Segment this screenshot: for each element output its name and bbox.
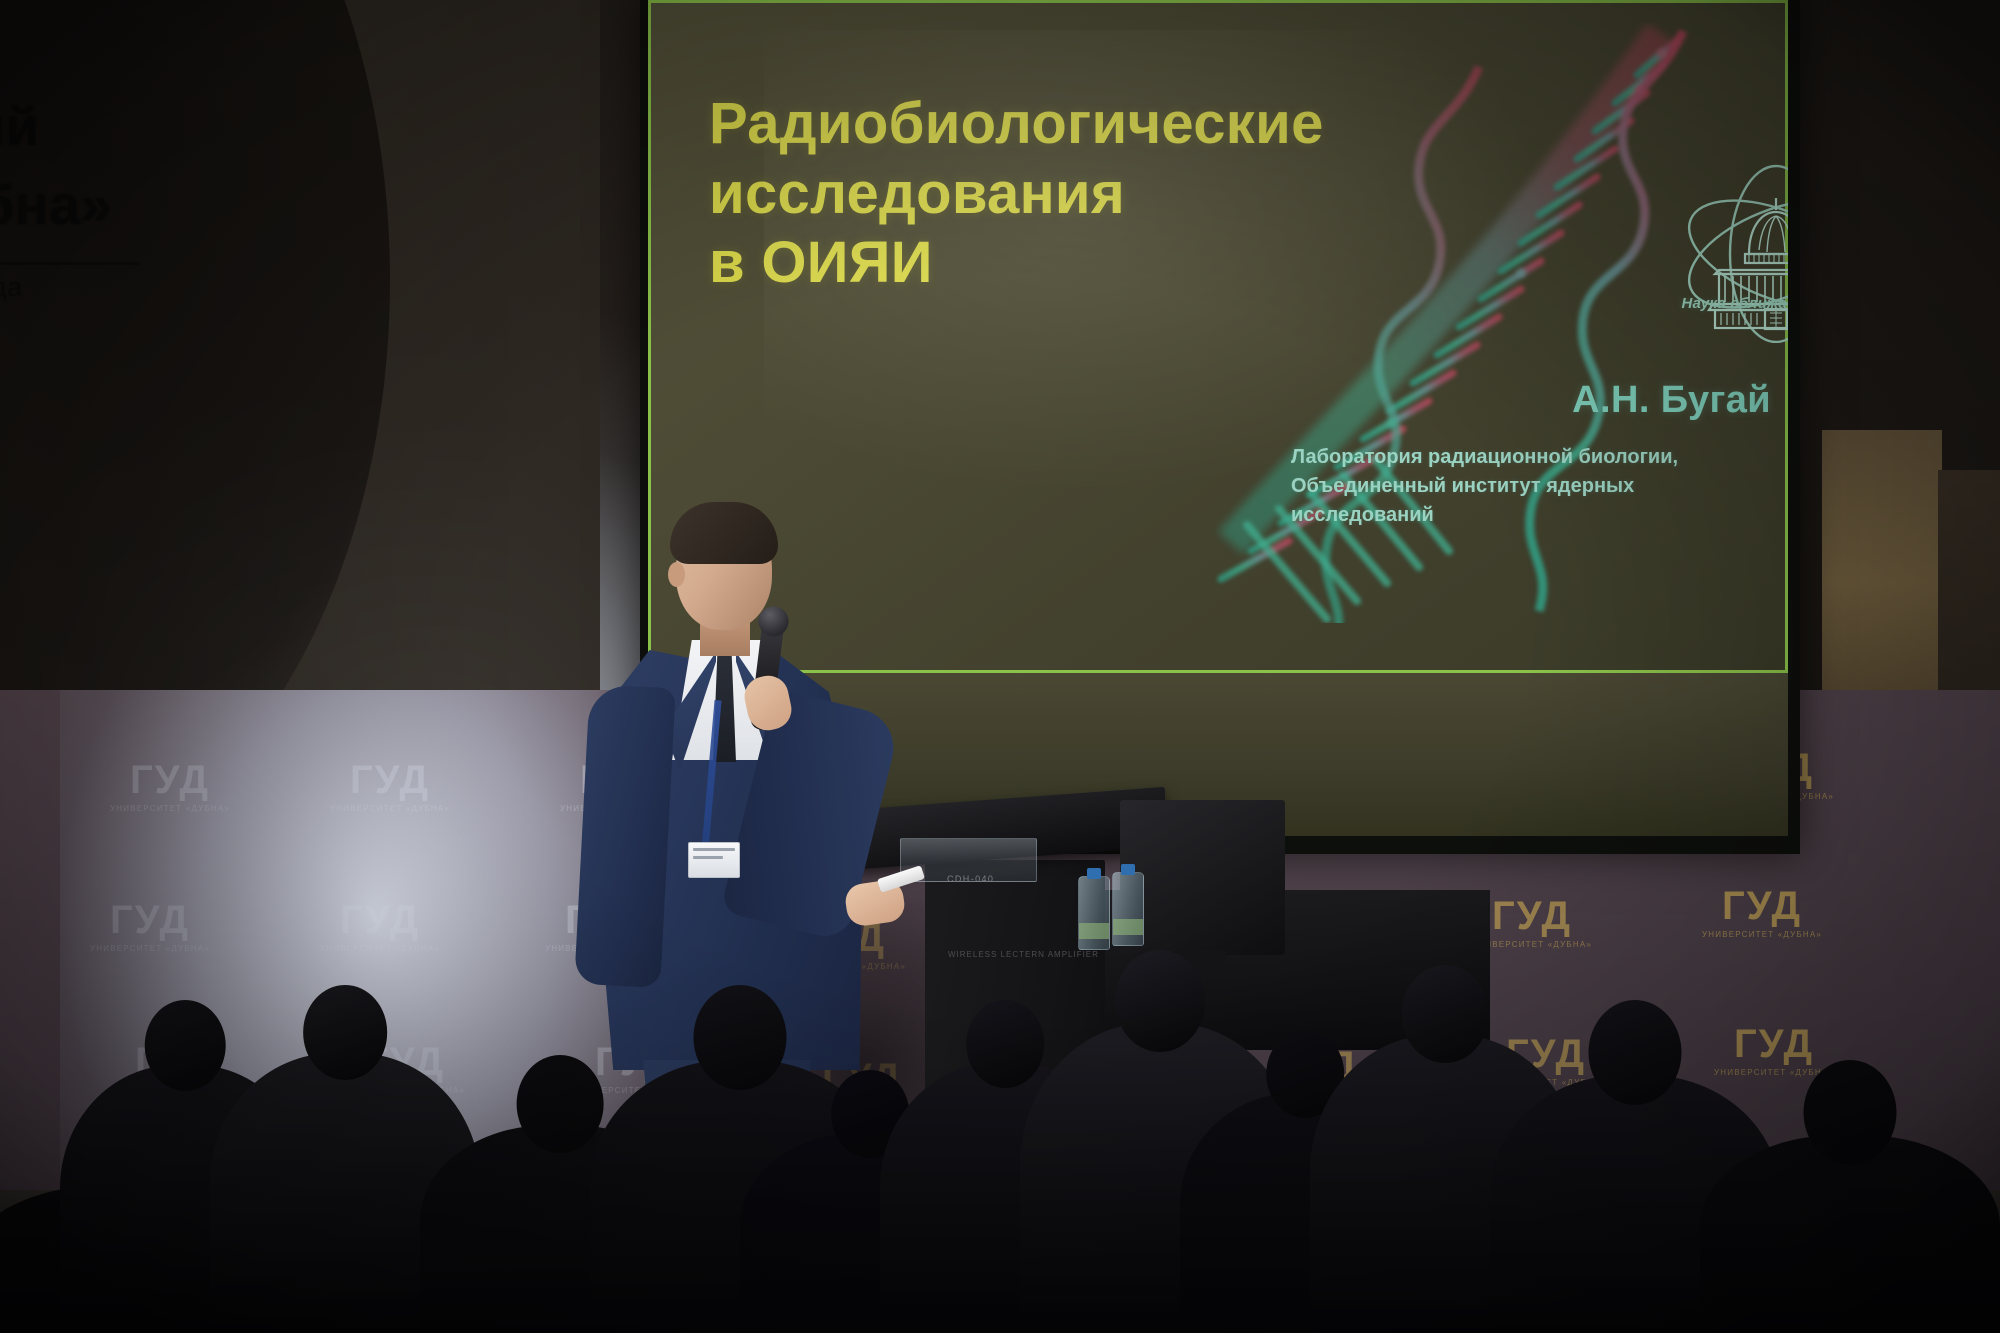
audience-head xyxy=(1115,950,1205,1052)
audience-member xyxy=(1700,1060,2000,1333)
audience-head xyxy=(694,985,787,1090)
speaker-hair xyxy=(670,502,778,564)
bottle-cap xyxy=(1121,864,1135,875)
audience-head xyxy=(1589,1000,1682,1105)
slide-affiliation: Лаборатория радиационной биологии, Объед… xyxy=(1291,443,1771,530)
slide-title-line-2: исследования xyxy=(709,159,1324,229)
affiliation-line-3: исследований xyxy=(1291,501,1771,530)
speaker-ear xyxy=(668,562,685,587)
water-bottle xyxy=(1112,872,1144,946)
slide-title-line-1: Радиобиологические xyxy=(709,89,1324,159)
backdrop-logo-subtext: УНИВЕРСИТЕТ «ДУБНА» xyxy=(1472,941,1592,949)
banner-line-1: ий xyxy=(0,96,39,158)
banner-divider xyxy=(0,262,140,265)
audience-head xyxy=(1804,1060,1897,1165)
backdrop-logo-text: ГУД xyxy=(1722,884,1802,928)
backdrop-logo: ГУДУНИВЕРСИТЕТ «ДУБНА» xyxy=(1702,886,1822,939)
podium-device-sublabel: WIRELESS LECTERN AMPLIFIER xyxy=(948,950,1099,959)
affiliation-line-2: Объединенный институт ядерных xyxy=(1291,472,1771,501)
backdrop-logo-subtext: УНИВЕРСИТЕТ «ДУБНА» xyxy=(1702,931,1822,939)
banner-line-3: ода xyxy=(0,272,23,303)
speaker-badge xyxy=(688,842,740,878)
bottle-label xyxy=(1113,919,1143,935)
bottle-cap xyxy=(1087,868,1101,879)
water-bottle xyxy=(1078,876,1110,950)
backdrop-logo-text: ГУД xyxy=(1492,894,1572,938)
audience-head xyxy=(1402,965,1489,1063)
slide-title-line-3: в ОИЯИ xyxy=(709,228,1324,298)
slide-author: А.Н. Бугай xyxy=(1391,379,1771,422)
affiliation-line-1: Лаборатория радиационной биологии, xyxy=(1291,443,1771,472)
slide-title: Радиобиологические исследования в ОИЯИ xyxy=(709,89,1324,298)
jinr-logo-svg xyxy=(1671,158,1788,343)
audience-head xyxy=(303,985,387,1080)
confidence-monitor xyxy=(1120,800,1285,955)
jinr-tagline: Наука сближает народы xyxy=(1637,295,1788,312)
banner-line-2: убна» xyxy=(0,172,112,237)
jinr-logo-icon xyxy=(1671,158,1788,343)
podium-device-label: CDH-040 xyxy=(947,874,994,884)
speaker-arm-left xyxy=(574,684,676,988)
screenshot-root: ий убна» ода ГУДУНИВЕРСИТЕТ «ДУБНА»ГУДУН… xyxy=(0,0,2000,1333)
backdrop-logo: ГУДУНИВЕРСИТЕТ «ДУБНА» xyxy=(1472,896,1592,949)
audience-head xyxy=(145,1000,226,1091)
bottle-label xyxy=(1079,923,1109,939)
